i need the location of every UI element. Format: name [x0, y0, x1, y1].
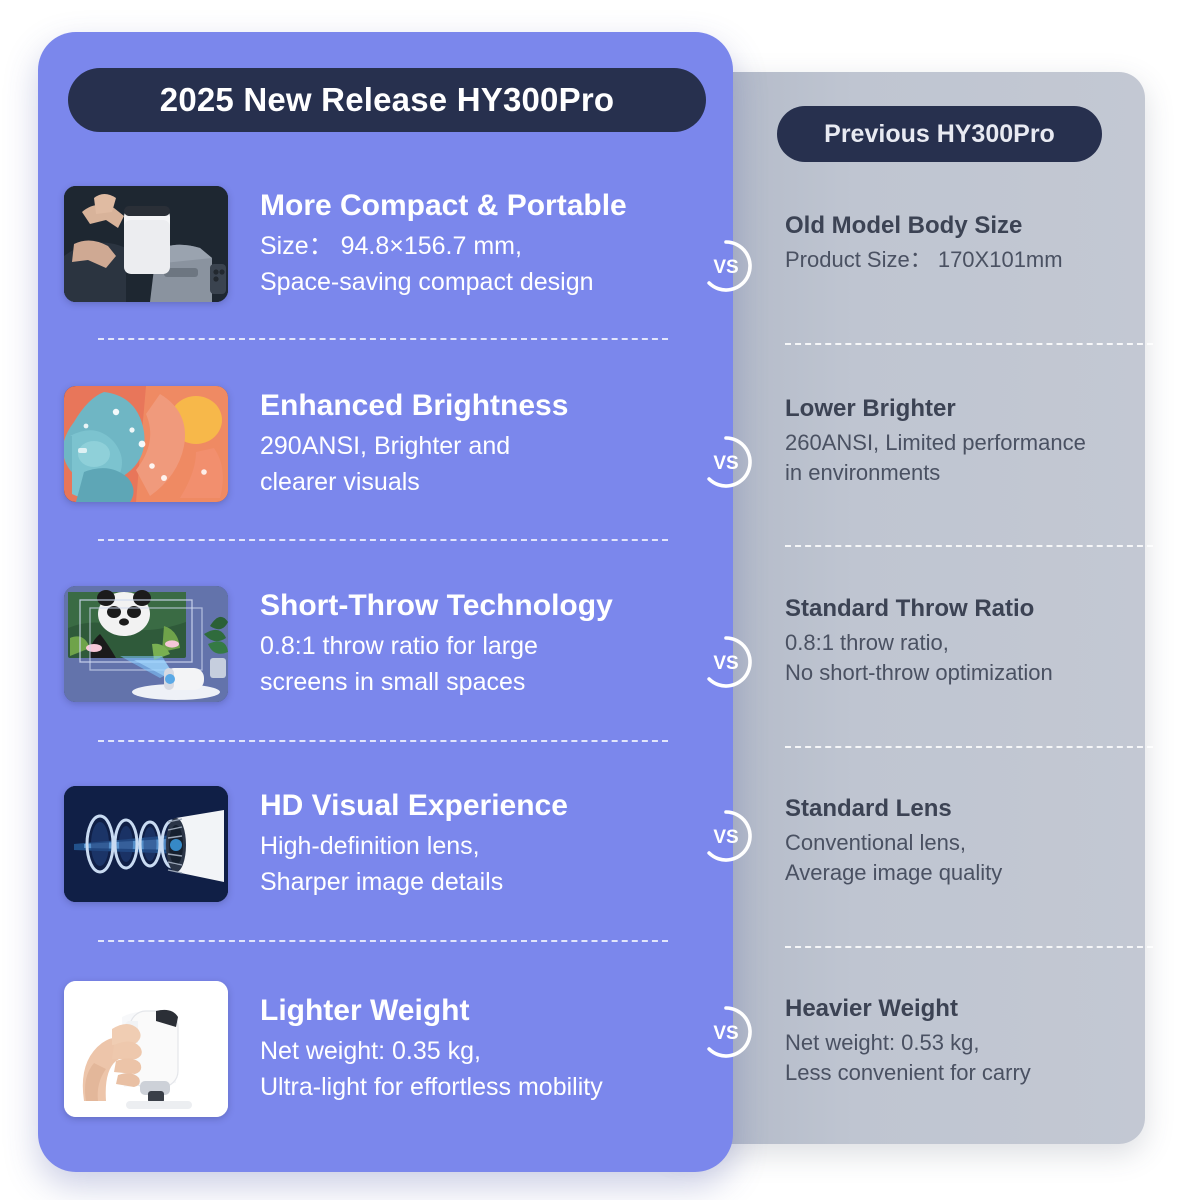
- svg-text:VS: VS: [713, 453, 738, 474]
- svg-text:VS: VS: [713, 1023, 738, 1044]
- feature-heading-new-2: Enhanced Brightness: [260, 388, 704, 423]
- svg-text:VS: VS: [713, 653, 738, 674]
- feature-line2-old-4: Average image quality: [785, 858, 1155, 888]
- feature-line1-old-3: 0.8:1 throw ratio,: [785, 628, 1155, 658]
- feature-text-new-3: Short-Throw Technology 0.8:1 throw ratio…: [260, 588, 704, 700]
- feature-line1-old-2: 260ANSI, Limited performance: [785, 428, 1155, 458]
- feature-heading-old-3: Standard Throw Ratio: [785, 595, 1155, 624]
- feature-row-new-3: Short-Throw Technology 0.8:1 throw ratio…: [64, 560, 704, 728]
- feature-heading-old-1: Old Model Body Size: [785, 212, 1155, 241]
- feature-line2-old-2: in environments: [785, 458, 1155, 488]
- feature-line1-new-5: Net weight: 0.35 kg,: [260, 1034, 704, 1070]
- feature-line2-new-2: clearer visuals: [260, 465, 704, 501]
- feature-line2-old-5: Less convenient for carry: [785, 1058, 1155, 1088]
- feature-line2-new-3: screens in small spaces: [260, 665, 704, 701]
- feature-line2-new-4: Sharper image details: [260, 865, 704, 901]
- feature-heading-old-5: Heavier Weight: [785, 995, 1155, 1024]
- feature-row-new-1: More Compact & Portable Size： 94.8×156.7…: [64, 160, 704, 328]
- feature-text-new-1: More Compact & Portable Size： 94.8×156.7…: [260, 188, 704, 300]
- feature-heading-new-4: HD Visual Experience: [260, 788, 704, 823]
- feature-line2-new-1: Space-saving compact design: [260, 265, 704, 301]
- previous-model-title: Previous HY300Pro: [824, 120, 1055, 149]
- thumb-hand-holding-projector: [64, 981, 228, 1117]
- divider-old-2: [785, 545, 1153, 547]
- feature-row-old-2: Lower Brighter 260ANSI, Limited performa…: [785, 358, 1155, 526]
- svg-text:VS: VS: [713, 827, 738, 848]
- feature-line2-new-5: Ultra-light for effortless mobility: [260, 1070, 704, 1106]
- feature-line1-new-4: High-definition lens,: [260, 829, 704, 865]
- feature-row-old-3: Standard Throw Ratio 0.8:1 throw ratio, …: [785, 558, 1155, 726]
- vs-badge-5: VS: [698, 1004, 754, 1060]
- divider-new-1: [98, 338, 668, 340]
- feature-heading-new-3: Short-Throw Technology: [260, 588, 704, 623]
- projector-in-backpack-icon: [64, 186, 228, 302]
- vs-badge-2: VS: [698, 434, 754, 490]
- comparison-infographic: 2025 New Release HY300Pro Previous HY300…: [0, 0, 1200, 1200]
- exploded-lens-icon: [64, 786, 228, 902]
- feature-line1-new-3: 0.8:1 throw ratio for large: [260, 629, 704, 665]
- hand-holding-projector-icon: [64, 981, 228, 1117]
- feature-heading-new-1: More Compact & Portable: [260, 188, 704, 223]
- feature-heading-old-2: Lower Brighter: [785, 395, 1155, 424]
- vs-badge-4: VS: [698, 808, 754, 864]
- feature-text-new-5: Lighter Weight Net weight: 0.35 kg, Ultr…: [260, 993, 704, 1105]
- projector-beam-panda-icon: [64, 586, 228, 702]
- thumb-glossy-flowers: [64, 386, 228, 502]
- glossy-flowers-icon: [64, 386, 228, 502]
- feature-row-old-5: Heavier Weight Net weight: 0.53 kg, Less…: [785, 958, 1155, 1126]
- feature-row-new-5: Lighter Weight Net weight: 0.35 kg, Ultr…: [64, 965, 704, 1133]
- feature-row-old-4: Standard Lens Conventional lens, Average…: [785, 758, 1155, 926]
- feature-row-new-4: HD Visual Experience High-definition len…: [64, 760, 704, 928]
- vs-badge-1: VS: [698, 238, 754, 294]
- feature-row-new-2: Enhanced Brightness 290ANSI, Brighter an…: [64, 360, 704, 528]
- divider-new-2: [98, 539, 668, 541]
- feature-line1-old-1: Product Size： 170X101mm: [785, 245, 1155, 275]
- new-model-title: 2025 New Release HY300Pro: [160, 81, 614, 119]
- feature-line1-old-4: Conventional lens,: [785, 828, 1155, 858]
- feature-line1-new-1: Size： 94.8×156.7 mm,: [260, 229, 704, 265]
- divider-old-1: [785, 343, 1153, 345]
- divider-new-4: [98, 940, 668, 942]
- feature-line2-old-3: No short-throw optimization: [785, 658, 1155, 688]
- feature-line1-new-2: 290ANSI, Brighter and: [260, 429, 704, 465]
- divider-old-3: [785, 746, 1153, 748]
- feature-line1-old-5: Net weight: 0.53 kg,: [785, 1028, 1155, 1058]
- new-model-title-badge: 2025 New Release HY300Pro: [68, 68, 706, 132]
- svg-text:VS: VS: [713, 257, 738, 278]
- feature-row-old-1: Old Model Body Size Product Size： 170X10…: [785, 160, 1155, 328]
- thumb-projector-in-backpack: [64, 186, 228, 302]
- feature-heading-old-4: Standard Lens: [785, 795, 1155, 824]
- previous-model-title-badge: Previous HY300Pro: [777, 106, 1102, 162]
- feature-text-new-4: HD Visual Experience High-definition len…: [260, 788, 704, 900]
- divider-new-3: [98, 740, 668, 742]
- feature-heading-new-5: Lighter Weight: [260, 993, 704, 1028]
- feature-text-new-2: Enhanced Brightness 290ANSI, Brighter an…: [260, 388, 704, 500]
- thumb-exploded-lens: [64, 786, 228, 902]
- thumb-projector-beam-panda: [64, 586, 228, 702]
- divider-old-4: [785, 946, 1153, 948]
- vs-badge-3: VS: [698, 634, 754, 690]
